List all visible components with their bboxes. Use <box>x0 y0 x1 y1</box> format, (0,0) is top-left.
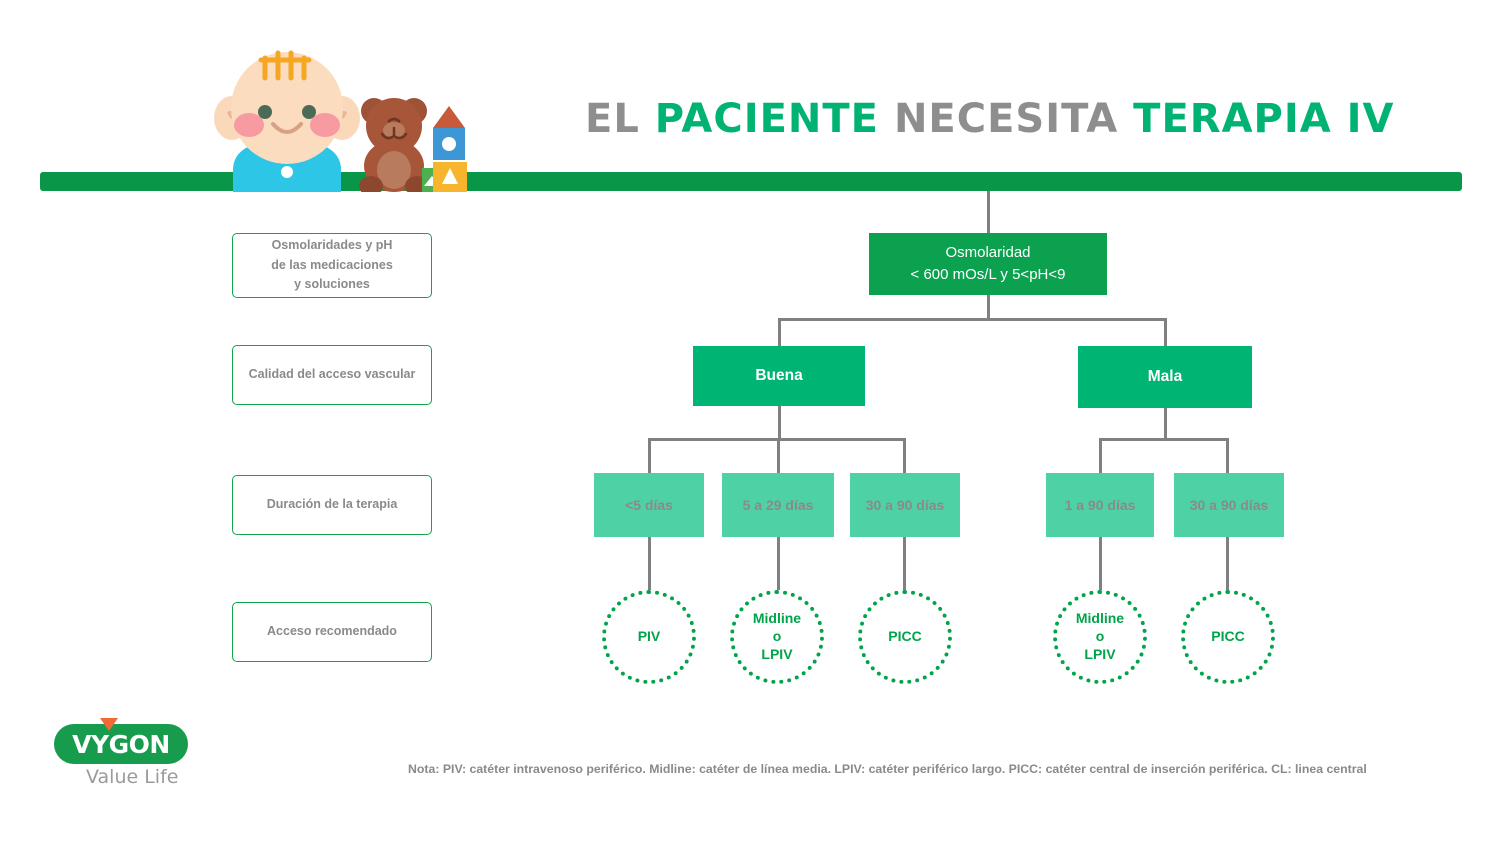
access-circle-piv[interactable]: PIV <box>602 590 696 684</box>
node-duracion-menos-5-dias[interactable]: <5 días <box>594 473 704 537</box>
row-label-osmolaridad-line1: Osmolaridades y pH <box>271 236 393 255</box>
connector-mala-durations-horizontal <box>1099 438 1229 441</box>
connector-mala-down <box>1164 406 1167 440</box>
connector-root-down <box>987 294 990 320</box>
row-label-duracion-terapia: Duración de la terapia <box>232 475 432 535</box>
node-osmolaridad-line2: < 600 mOs/L y 5<pH<9 <box>911 264 1066 286</box>
access-circle-piv-label: PIV <box>638 628 661 646</box>
vygon-logo-wordmark: VYGON <box>72 730 170 759</box>
connector-quality-horizontal <box>778 318 1166 321</box>
vygon-logo-tagline: Value Life <box>86 766 178 788</box>
access-circle-midline-line1: Midline <box>753 610 801 628</box>
access-circle-midline-line2: o <box>753 628 801 646</box>
baby-and-teddy-illustration <box>185 20 485 192</box>
title-part-necesita: NECESITA <box>894 96 1133 142</box>
node-duracion-30-a-90-dias-mala[interactable]: 30 a 90 días <box>1174 473 1284 537</box>
node-duracion-5-a-29-dias[interactable]: 5 a 29 días <box>722 473 834 537</box>
title-part-paciente: PACIENTE <box>655 96 894 142</box>
access-circle-midline-lpiv-buena[interactable]: Midline o LPIV <box>730 590 824 684</box>
node-duracion-1-a-90-dias[interactable]: 1 a 90 días <box>1046 473 1154 537</box>
connector-to-duration-1 <box>648 438 651 474</box>
node-duracion-30-a-90-dias[interactable]: 30 a 90 días <box>850 473 960 537</box>
connector-to-duration-2 <box>777 438 780 474</box>
access-circle-picc-mala[interactable]: PICC <box>1181 590 1275 684</box>
connector-shelf-to-root <box>987 191 990 235</box>
connector-duration-1-to-access <box>648 535 651 593</box>
access-circle-picc-label: PICC <box>888 628 921 646</box>
node-osmolaridad[interactable]: Osmolaridad < 600 mOs/L y 5<pH<9 <box>869 233 1107 295</box>
page-title: EL PACIENTE NECESITA TERAPIA IV <box>585 96 1394 142</box>
connector-to-mala <box>1164 318 1167 348</box>
connector-to-duration-3 <box>903 438 906 474</box>
node-osmolaridad-line1: Osmolaridad <box>911 242 1066 264</box>
vygon-logo-triangle-icon <box>100 718 118 731</box>
row-label-acceso-recomendado: Acceso recomendado <box>232 602 432 662</box>
node-calidad-mala[interactable]: Mala <box>1078 346 1252 408</box>
node-calidad-buena[interactable]: Buena <box>693 346 865 406</box>
access-circle-picc-buena[interactable]: PICC <box>858 590 952 684</box>
connector-duration-5-to-access <box>1226 535 1229 593</box>
row-label-osmolaridad-line2: de las medicaciones <box>271 256 393 275</box>
access-circle-midline-mala-line3: LPIV <box>1076 646 1124 664</box>
vygon-logo-pill: VYGON <box>54 724 188 764</box>
row-label-osmolaridad: Osmolaridades y pH de las medicaciones y… <box>232 233 432 298</box>
access-circle-picc-mala-label: PICC <box>1211 628 1244 646</box>
connector-duration-2-to-access <box>777 535 780 593</box>
row-label-calidad-acceso-vascular: Calidad del acceso vascular <box>232 345 432 405</box>
connector-to-buena <box>778 318 781 348</box>
connector-buena-down <box>778 404 781 440</box>
access-circle-midline-line3: LPIV <box>753 646 801 664</box>
title-part-terapia-iv: TERAPIA IV <box>1133 96 1394 142</box>
footnote-abbreviations: Nota: PIV: catéter intravenoso periféric… <box>408 762 1468 776</box>
infographic-canvas: EL PACIENTE NECESITA TERAPIA IV Osmolari… <box>0 0 1500 841</box>
access-circle-midline-mala-line2: o <box>1076 628 1124 646</box>
row-label-osmolaridad-line3: y soluciones <box>271 275 393 294</box>
connector-duration-4-to-access <box>1099 535 1102 593</box>
connector-duration-3-to-access <box>903 535 906 593</box>
title-part-el: EL <box>585 96 655 142</box>
connector-to-duration-5 <box>1226 438 1229 474</box>
vygon-logo: VYGON Value Life <box>48 716 238 796</box>
connector-to-duration-4 <box>1099 438 1102 474</box>
access-circle-midline-mala-line1: Midline <box>1076 610 1124 628</box>
access-circle-midline-lpiv-mala[interactable]: Midline o LPIV <box>1053 590 1147 684</box>
